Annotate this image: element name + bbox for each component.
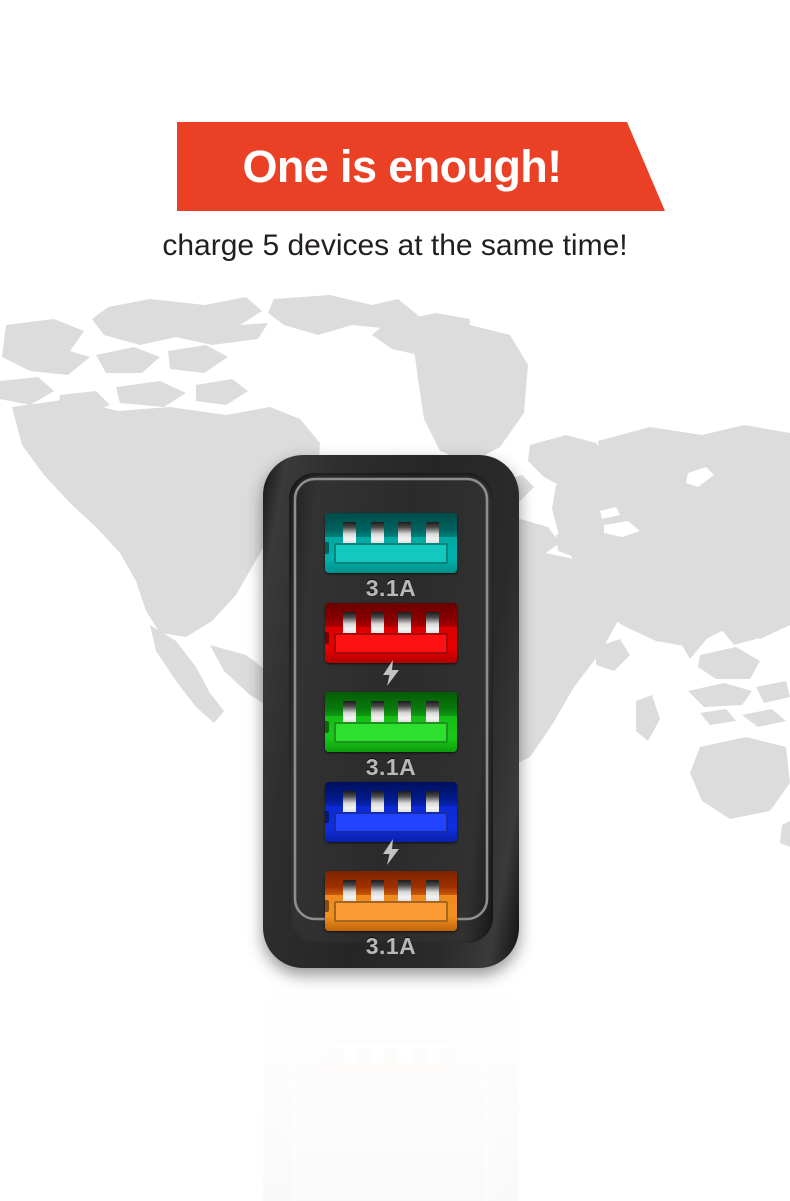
headline-banner: One is enough! [177, 122, 665, 211]
usb-port-blue[interactable] [325, 782, 457, 842]
usb-tongue [334, 812, 448, 833]
fast-charge-bolt-icon-2 [263, 837, 519, 865]
usb-tongue [334, 633, 448, 654]
usb-notch [325, 900, 329, 912]
charger-reflection: 3.1A [263, 975, 519, 1201]
usb-port-teal[interactable] [325, 513, 457, 573]
usb-port-green[interactable] [325, 692, 457, 752]
usb-notch [325, 542, 329, 554]
usb-notch [325, 632, 329, 644]
amperage-label-2: 3.1A [263, 754, 519, 781]
usb-notch [325, 811, 329, 823]
reflection-amperage-label: 3.1A [263, 983, 519, 1010]
usb-tongue [334, 722, 448, 743]
headline-text: One is enough! [177, 122, 627, 211]
fast-charge-bolt-icon-1 [263, 658, 519, 686]
amperage-label-1: 3.1A [263, 575, 519, 602]
usb-tongue [334, 901, 448, 922]
usb-port-orange[interactable] [325, 871, 457, 931]
amperage-label-3: 3.1A [263, 933, 519, 960]
port-column: 3.1A [263, 455, 519, 968]
subtitle-text: charge 5 devices at the same time! [0, 229, 790, 263]
product-marketing-image: One is enough! charge 5 devices at the s… [0, 0, 790, 1201]
usb-tongue [334, 543, 448, 564]
reflection-port [325, 1012, 457, 1072]
usb-notch [325, 721, 329, 733]
usb-charger: 3.1A [263, 455, 519, 968]
usb-port-red[interactable] [325, 603, 457, 663]
